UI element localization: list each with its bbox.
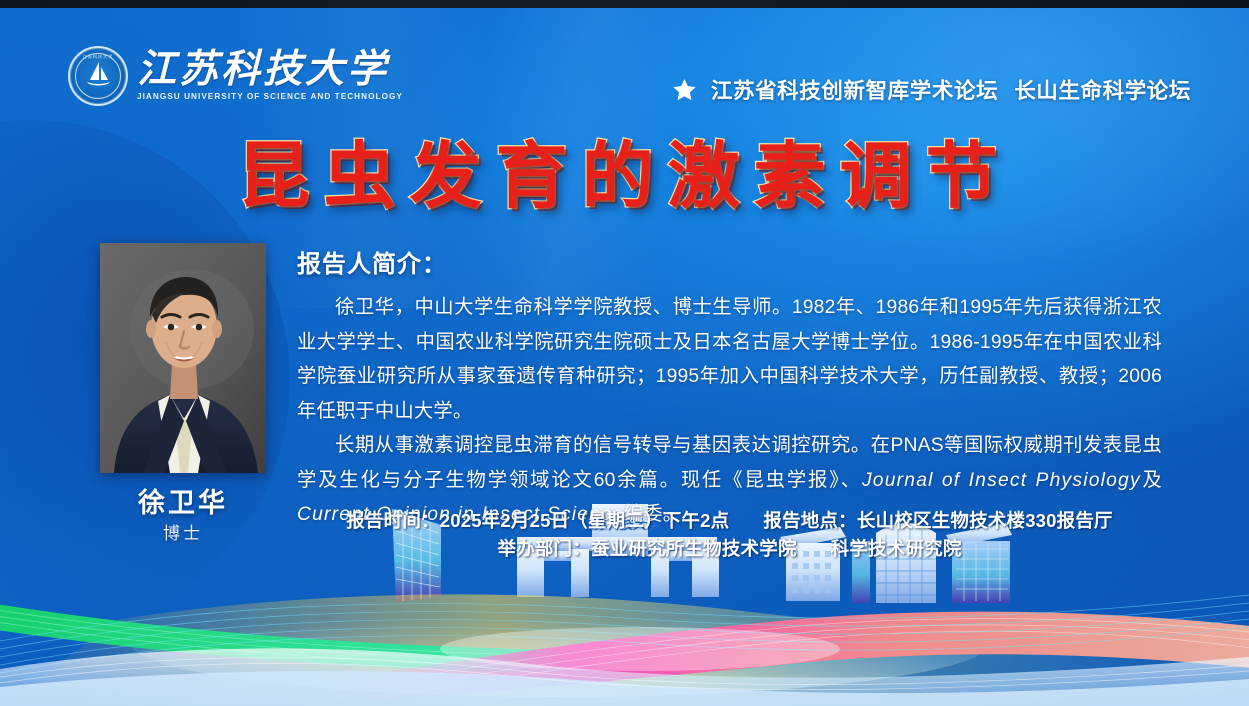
logo-chinese-name: 江苏科技大学	[137, 49, 403, 90]
time-label: 报告时间：	[346, 510, 440, 531]
forum-title-b: 长山生命科学论坛	[1014, 79, 1191, 103]
speaker-photo	[100, 243, 266, 473]
place-value: 长山校区生物技术楼330报告厅	[857, 510, 1113, 531]
journal-name-1: Journal of Insect Physiology	[862, 470, 1141, 491]
poster-canvas: 江苏科技大学 江苏科技大学 JIANGSU UNIVERSITY OF SCIE…	[0, 0, 1249, 706]
bio-heading: 报告人简介：	[297, 244, 1162, 279]
poster-title-text: 昆虫发育的激素调节	[237, 134, 1011, 218]
portrait-illustration	[100, 243, 266, 473]
dept-label: 举办部门：	[497, 538, 591, 559]
forum-title: 江苏省科技创新智库学术论坛长山生命科学论坛	[711, 74, 1191, 105]
event-department-row: 举办部门：蚕业研究所生物技术学院科学技术研究院	[297, 535, 1162, 563]
speaker-bio-block: 报告人简介： 徐卫华，中山大学生命科学学院教授、博士生导师。1982年、1986…	[297, 244, 1162, 533]
bio-p2-part-b: 及	[1141, 470, 1162, 491]
sailboat-icon	[83, 59, 113, 89]
dept-value-a: 蚕业研究所生物技术学院	[591, 538, 797, 559]
forum-title-a: 江苏省科技创新智库学术论坛	[711, 79, 998, 103]
star-icon	[671, 77, 698, 103]
forum-banner: 江苏省科技创新智库学术论坛长山生命科学论坛	[671, 74, 1191, 105]
speaker-name: 徐卫华	[100, 481, 266, 520]
event-time-place-row: 报告时间：2025年2月25日（星期二）下午2点报告地点：长山校区生物技术楼33…	[297, 507, 1162, 535]
top-dark-bar	[0, 0, 1249, 8]
event-info-block: 报告时间：2025年2月25日（星期二）下午2点报告地点：长山校区生物技术楼33…	[297, 507, 1162, 563]
time-value: 2025年2月25日（星期二）下午2点	[440, 510, 730, 531]
place-label: 报告地点：	[763, 510, 857, 531]
university-logo: 江苏科技大学 江苏科技大学 JIANGSU UNIVERSITY OF SCIE…	[68, 46, 403, 106]
speaker-degree: 博士	[100, 519, 266, 544]
logo-english-name: JIANGSU UNIVERSITY OF SCIENCE AND TECHNO…	[137, 91, 403, 103]
bio-paragraph-1: 徐卫华，中山大学生命科学学院教授、博士生导师。1982年、1986年和1995年…	[297, 291, 1162, 429]
poster-header: 江苏科技大学 江苏科技大学 JIANGSU UNIVERSITY OF SCIE…	[0, 8, 1249, 128]
university-crest-icon: 江苏科技大学	[68, 46, 128, 106]
dept-value-b: 科学技术研究院	[831, 538, 962, 559]
poster-title: 昆虫发育的激素调节	[0, 134, 1249, 218]
